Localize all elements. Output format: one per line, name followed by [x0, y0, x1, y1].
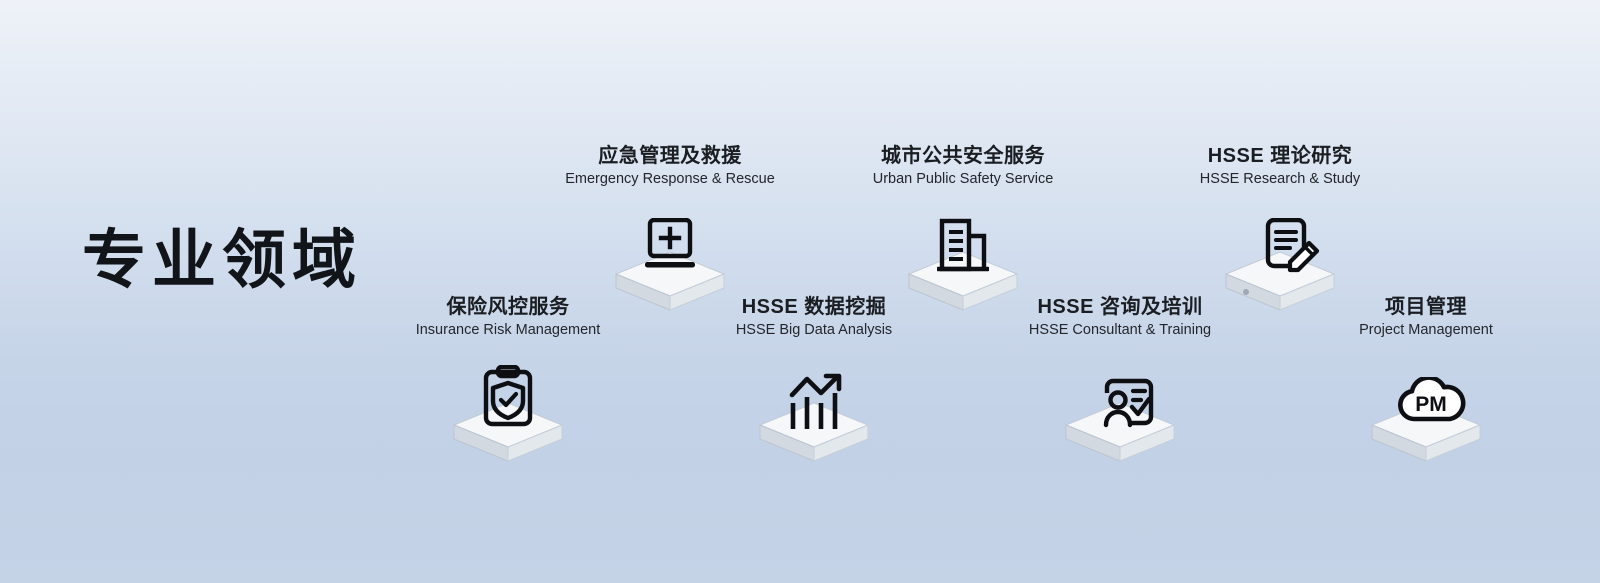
service-item-emergency-response[interactable]: 应急管理及救援 Emergency Response & Rescue — [540, 145, 800, 316]
service-title-en: Urban Public Safety Service — [833, 170, 1093, 188]
service-item-urban-safety[interactable]: 城市公共安全服务 Urban Public Safety Service — [833, 145, 1093, 316]
service-artwork — [990, 347, 1250, 467]
service-title-en: HSSE Big Data Analysis — [684, 321, 944, 339]
service-title-en: HSSE Research & Study — [1150, 170, 1410, 188]
service-title-en: Insurance Risk Management — [378, 321, 638, 339]
monitor-medical-cross-icon — [641, 218, 699, 272]
clipboard-shield-check-icon — [480, 365, 536, 429]
service-title-cn: 保险风控服务 — [378, 296, 638, 318]
service-artwork: PM — [1296, 347, 1556, 467]
service-item-hsse-big-data[interactable]: HSSE 数据挖掘 HSSE Big Data Analysis — [684, 296, 944, 467]
service-title-cn: HSSE 咨询及培训 — [990, 296, 1250, 318]
service-title-cn: 项目管理 — [1296, 296, 1556, 318]
bar-chart-trend-arrow-icon — [783, 373, 845, 433]
document-pencil-icon — [1260, 218, 1320, 276]
service-item-project-management[interactable]: 项目管理 Project Management PM — [1296, 296, 1556, 467]
service-title-cn: 应急管理及救援 — [540, 145, 800, 167]
cloud-pm-icon: PM — [1394, 377, 1468, 425]
service-title-en: Emergency Response & Rescue — [540, 170, 800, 188]
service-artwork — [378, 347, 638, 467]
svg-text:PM: PM — [1415, 393, 1447, 416]
service-title-cn: 城市公共安全服务 — [833, 145, 1093, 167]
service-title-en: Project Management — [1296, 321, 1556, 339]
id-card-person-check-icon — [1099, 377, 1157, 429]
service-artwork — [684, 347, 944, 467]
service-item-hsse-consultant[interactable]: HSSE 咨询及培训 HSSE Consultant & Training — [990, 296, 1250, 467]
city-buildings-icon — [937, 218, 989, 274]
service-item-hsse-research[interactable]: HSSE 理论研究 HSSE Research & Study — [1150, 145, 1410, 316]
service-title-cn: HSSE 理论研究 — [1150, 145, 1410, 167]
banner-stage: 专业领域 应急管理及救援 Emergency Response & Rescue — [0, 0, 1600, 583]
page-title: 专业领域 — [82, 228, 362, 292]
service-item-insurance-risk[interactable]: 保险风控服务 Insurance Risk Management — [378, 296, 638, 467]
service-title-cn: HSSE 数据挖掘 — [684, 296, 944, 318]
service-title-en: HSSE Consultant & Training — [990, 321, 1250, 339]
